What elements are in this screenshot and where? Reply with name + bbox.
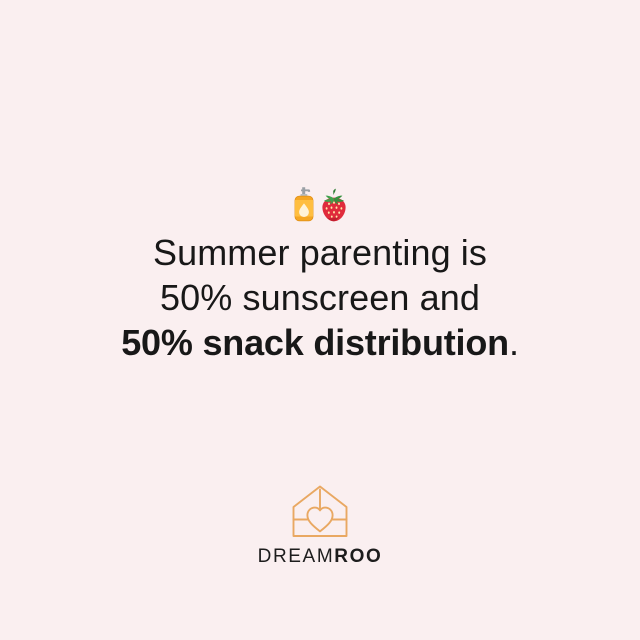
strawberry-emoji <box>319 188 349 226</box>
emoji-row <box>0 186 640 226</box>
headline-period: . <box>509 322 519 363</box>
sunscreen-bottle-emoji <box>291 186 317 226</box>
house-heart-icon <box>289 484 351 540</box>
headline: Summer parenting is 50% sunscreen and 50… <box>0 230 640 365</box>
headline-line-3-text: 50% snack distribution <box>121 322 509 363</box>
wordmark-roo: ROO <box>334 546 382 567</box>
wordmark-dream: DREAM <box>258 546 335 567</box>
headline-line-1: Summer parenting is <box>0 230 640 275</box>
post-canvas: Summer parenting is 50% sunscreen and 50… <box>0 0 640 640</box>
brand-wordmark: DREAMROO <box>258 547 383 567</box>
brand-logo: DREAMROO <box>0 484 640 567</box>
headline-line-2: 50% sunscreen and <box>0 275 640 320</box>
headline-line-3: 50% snack distribution. <box>0 320 640 365</box>
